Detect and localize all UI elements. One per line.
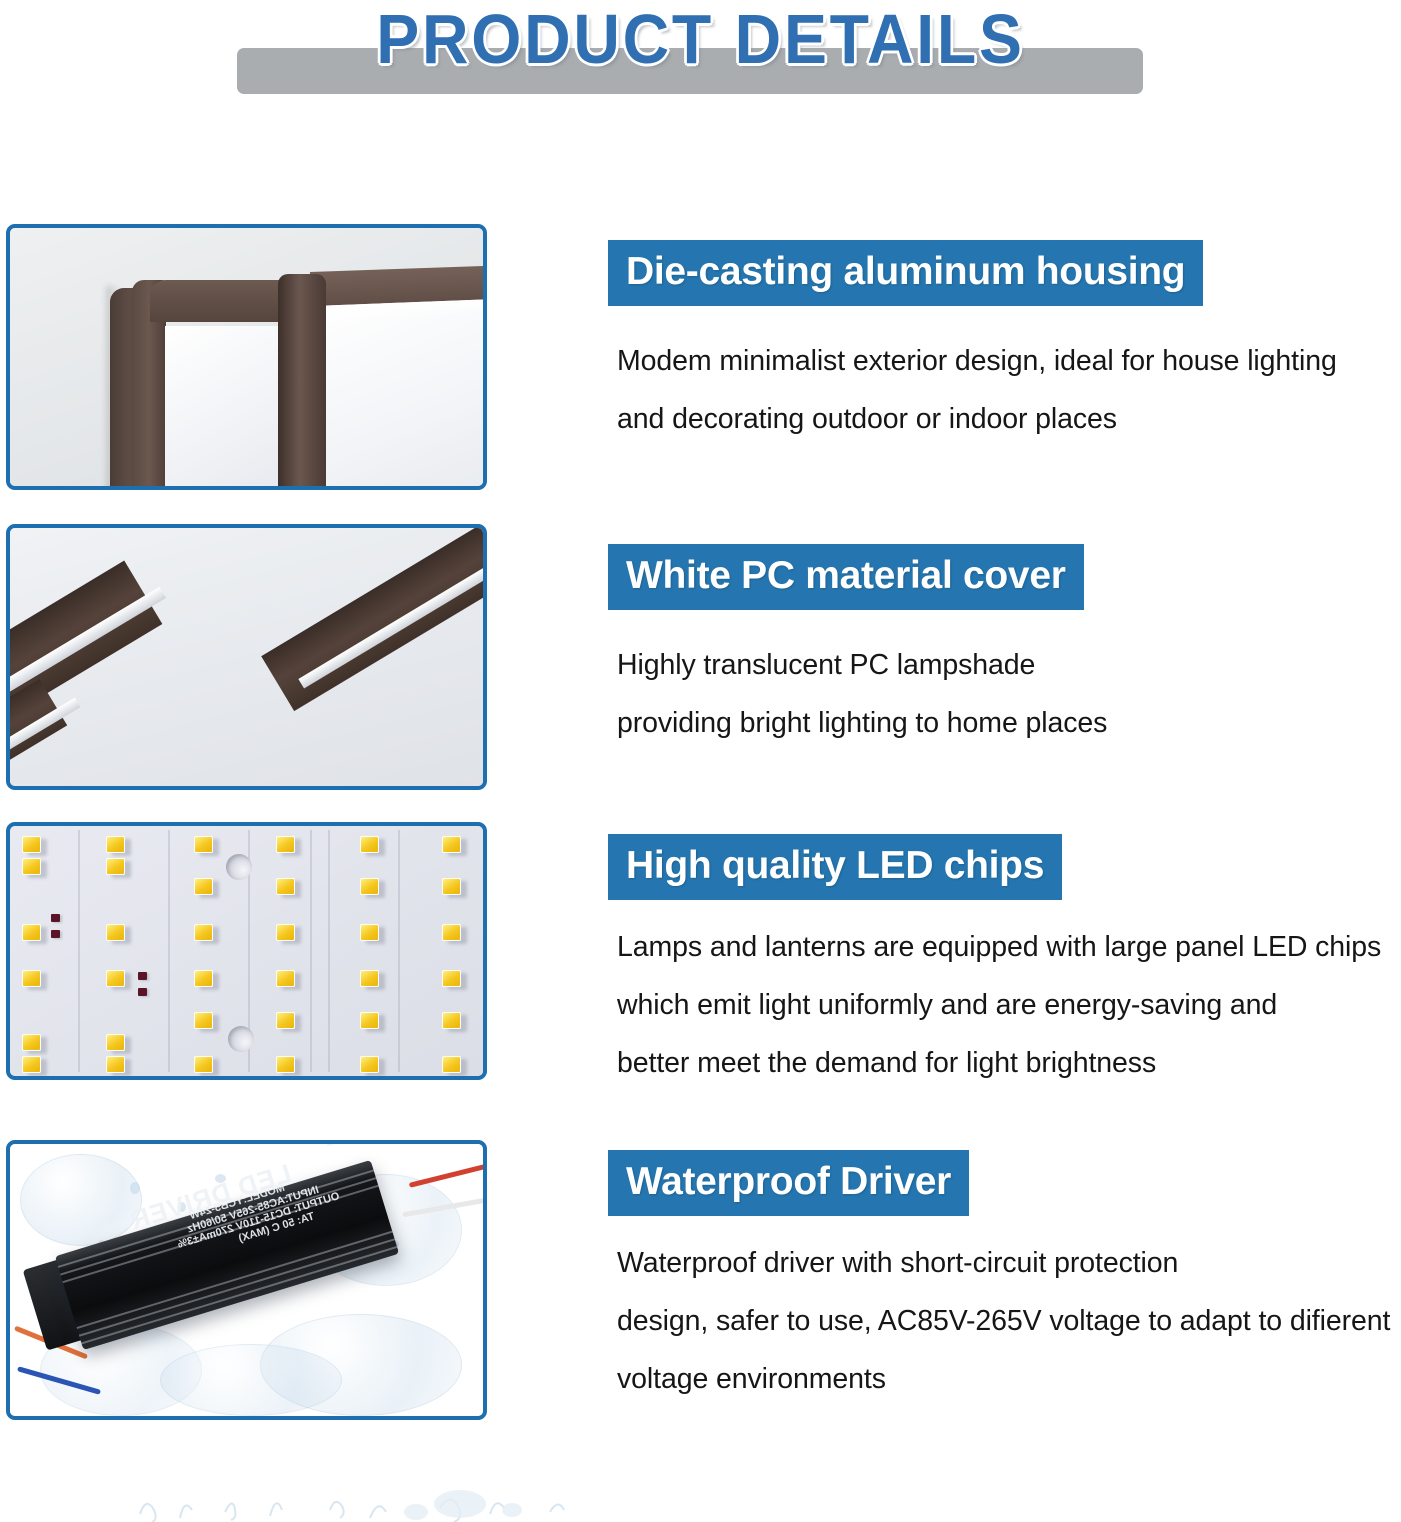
led-chip [194, 878, 213, 895]
led-chip [360, 970, 379, 987]
led-chip [360, 1012, 379, 1029]
led-chip [442, 878, 461, 895]
section-body-line: Waterproof driver with short-circuit pro… [608, 1234, 1390, 1292]
led-chip [194, 1056, 213, 1073]
led-chip [442, 836, 461, 853]
led-chip [194, 924, 213, 941]
section-white-pc-material-cover: White PC material cover Highly transluce… [0, 524, 1401, 792]
led-chip [106, 924, 125, 941]
water-splash [20, 1154, 142, 1246]
text-block-led-chips: High quality LED chips Lamps and lantern… [608, 834, 1381, 1092]
led-chip [106, 970, 125, 987]
led-chip [276, 1012, 295, 1029]
led-chip [276, 1056, 295, 1073]
led-chip [106, 1034, 125, 1051]
section-body-line: Lamps and lanterns are equipped with lar… [608, 918, 1381, 976]
led-chip [276, 878, 295, 895]
led-chip [106, 836, 125, 853]
section-body-line: voltage environments [608, 1350, 1390, 1408]
section-waterproof-driver: MODEL:YCB5-24W INPUT:AC85-265V 50/60Hz O… [0, 1140, 1401, 1422]
product-image-led-board [6, 822, 487, 1080]
text-block-pc-cover: White PC material cover Highly transluce… [608, 544, 1107, 752]
wire-red [409, 1161, 483, 1188]
resistor [51, 914, 60, 922]
section-body-line: providing bright lighting to home places [608, 694, 1107, 752]
bottom-water-splash-icon [120, 1452, 680, 1522]
resistor [51, 930, 60, 938]
resistor [138, 988, 147, 996]
led-chip [22, 836, 41, 853]
led-chip [442, 970, 461, 987]
housing-corner-post [278, 274, 326, 490]
led-chip [276, 836, 295, 853]
section-heading-driver: Waterproof Driver [608, 1150, 969, 1216]
led-chip [22, 858, 41, 875]
led-chip [22, 1034, 41, 1051]
housing-panel-left [165, 326, 280, 490]
led-chip [106, 1056, 125, 1073]
text-block-housing: Die-casting aluminum housing Modem minim… [608, 240, 1337, 448]
led-chip [442, 1012, 461, 1029]
section-heading-led-chips: High quality LED chips [608, 834, 1062, 900]
led-chip [194, 970, 213, 987]
led-chip [360, 836, 379, 853]
led-chip [194, 836, 213, 853]
led-chip [22, 1056, 41, 1073]
mounting-hole [228, 1026, 254, 1052]
section-heading-housing: Die-casting aluminum housing [608, 240, 1203, 306]
section-body-line: better meet the demand for light brightn… [608, 1034, 1381, 1092]
section-heading-pc-cover: White PC material cover [608, 544, 1084, 610]
product-image-pc-cover [6, 524, 487, 790]
led-chip [106, 858, 125, 875]
led-chip [360, 1056, 379, 1073]
led-chip [442, 924, 461, 941]
section-body-line: which emit light uniformly and are energ… [608, 976, 1381, 1034]
page-title: PRODUCT DETAILS [56, 0, 1345, 78]
housing-panel-right [314, 299, 487, 490]
led-board [10, 826, 483, 1076]
section-body-line: Highly translucent PC lampshade [608, 636, 1107, 694]
product-image-driver: MODEL:YCB5-24W INPUT:AC85-265V 50/60Hz O… [6, 1140, 487, 1420]
led-chip [360, 924, 379, 941]
water-splash-foreground [160, 1344, 342, 1416]
resistor [138, 972, 147, 980]
section-body-line: design, safer to use, AC85V-265V voltage… [608, 1292, 1390, 1350]
led-chip [22, 970, 41, 987]
page-header: PRODUCT DETAILS [0, 0, 1401, 110]
led-chip [194, 1012, 213, 1029]
product-image-housing [6, 224, 487, 490]
led-chip [276, 924, 295, 941]
mounting-hole [226, 854, 252, 880]
led-chip [276, 970, 295, 987]
section-body-line: and decorating outdoor or indoor places [608, 390, 1337, 448]
led-chip [442, 1056, 461, 1073]
text-block-driver: Waterproof Driver Waterproof driver with… [608, 1150, 1390, 1408]
ce-mark-icon: CE [322, 1144, 350, 1151]
section-die-casting-aluminum-housing: Die-casting aluminum housing Modem minim… [0, 224, 1401, 492]
section-high-quality-led-chips: High quality LED chips Lamps and lantern… [0, 822, 1401, 1084]
section-body-line: Modem minimalist exterior design, ideal … [608, 332, 1337, 390]
led-chip [360, 878, 379, 895]
led-chip [22, 924, 41, 941]
